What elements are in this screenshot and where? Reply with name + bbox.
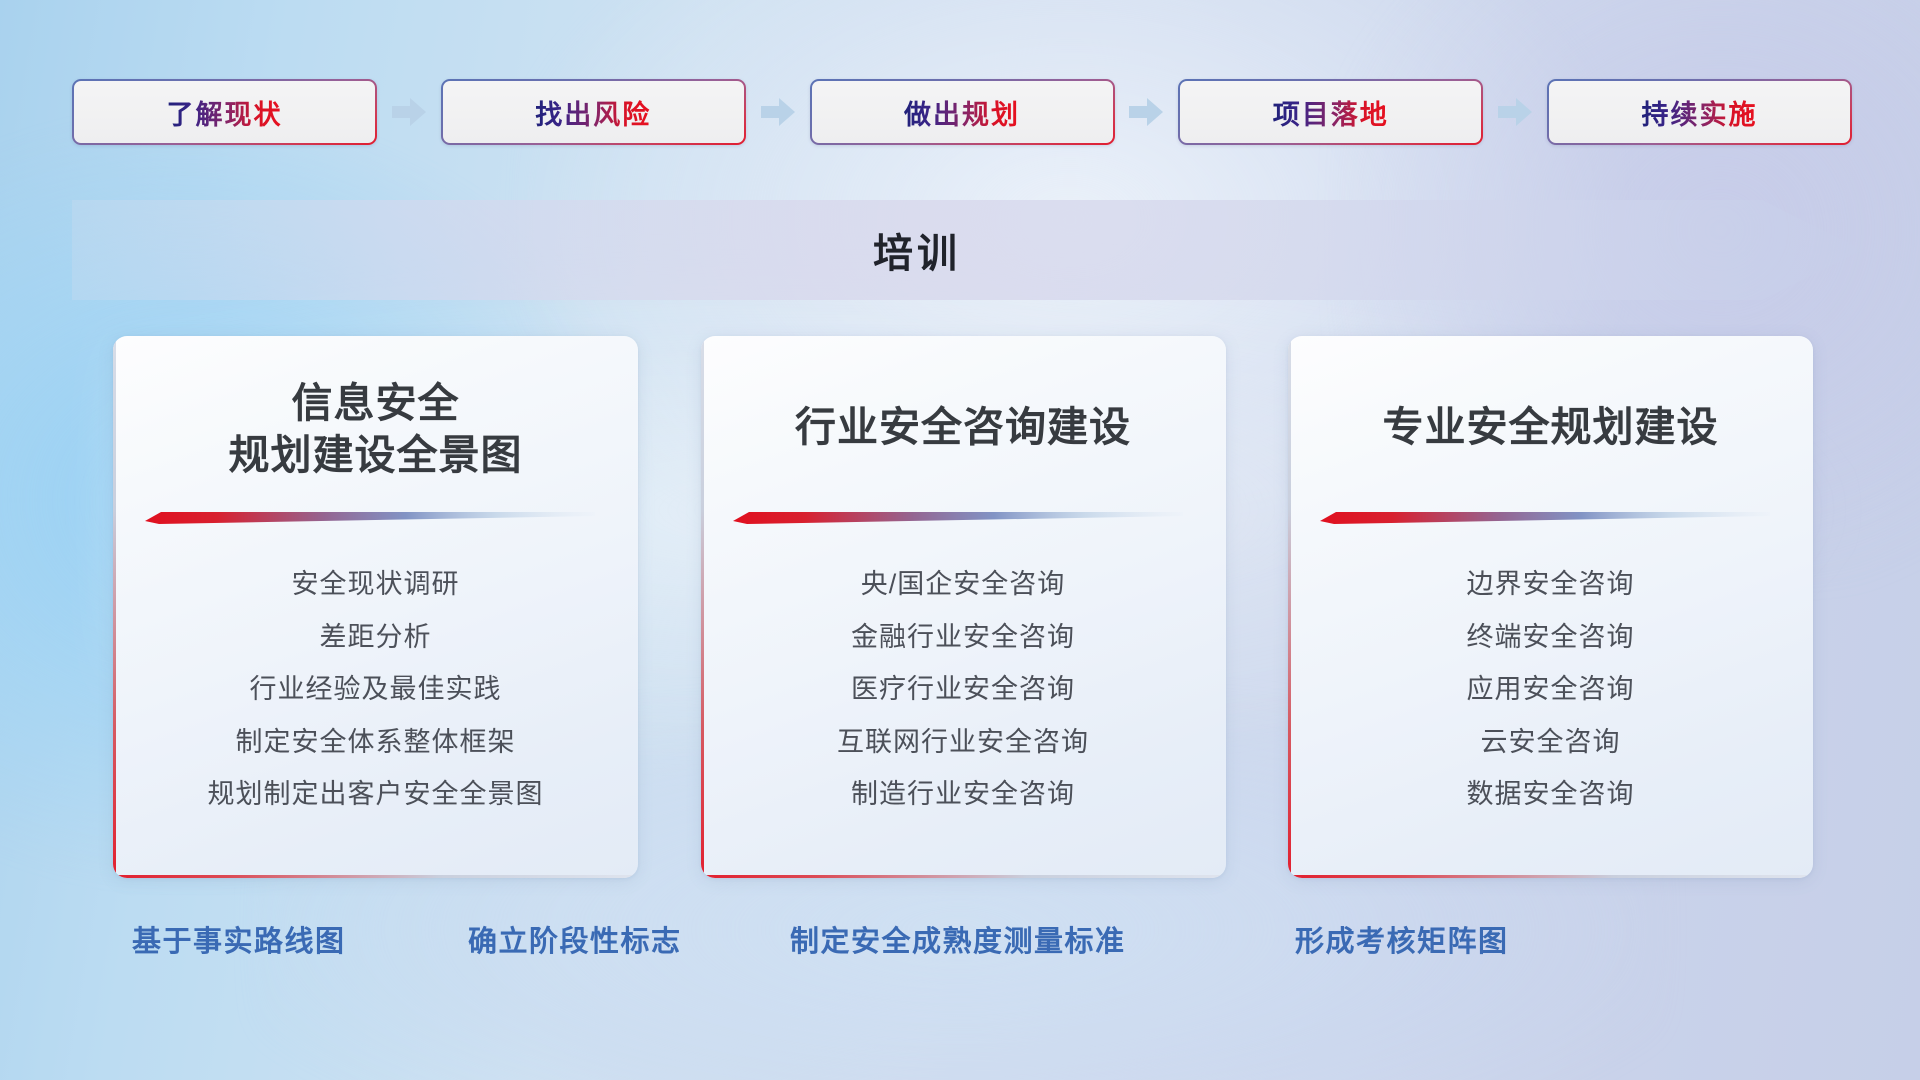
service-card-2-item-5: 制造行业安全咨询: [851, 774, 1075, 815]
service-card-2-bottom-accent: [701, 875, 1226, 878]
service-card-2-list: 央/国企安全咨询金融行业安全咨询医疗行业安全咨询互联网行业安全咨询制造行业安全咨…: [701, 564, 1226, 815]
outcome-caption-2: 确立阶段性标志: [468, 918, 682, 960]
service-card-2-item-4: 互联网行业安全咨询: [837, 722, 1089, 763]
outcome-caption-3: 制定安全成熟度测量标准: [790, 918, 1126, 960]
process-step-label-5: 持续实施: [1642, 93, 1758, 132]
process-step-inner-4: 项目落地: [1180, 81, 1481, 143]
process-step-3[interactable]: 做出规划: [810, 79, 1115, 145]
slide-stage: 了解现状 找出风险 做出规划 项目落地 持续实施: [0, 0, 1920, 1080]
process-step-inner-3: 做出规划: [812, 81, 1113, 143]
step-chevron-icon-3: [1129, 97, 1163, 127]
step-arrow-1: [392, 97, 426, 127]
service-card-2-item-2: 金融行业安全咨询: [851, 617, 1075, 658]
process-step-label-1: 了解现状: [167, 93, 283, 132]
service-card-1-item-3: 行业经验及最佳实践: [250, 669, 502, 710]
service-card-1-title: 信息安全 规划建设全景图: [113, 378, 638, 481]
service-card-3-divider: [1320, 508, 1770, 524]
step-chevron-icon-2: [761, 97, 795, 127]
card-row: 信息安全 规划建设全景图: [113, 336, 1813, 878]
service-card-1-list: 安全现状调研差距分析行业经验及最佳实践制定安全体系整体框架规划制定出客户安全全景…: [113, 564, 638, 815]
training-banner-label: 培训: [72, 200, 1762, 300]
service-card-3-list: 边界安全咨询终端安全咨询应用安全咨询云安全咨询数据安全咨询: [1288, 564, 1813, 815]
step-chevron-icon-1: [392, 97, 426, 127]
service-card-1-bottom-accent: [113, 875, 638, 878]
service-card-3-title: 专业安全规划建设: [1288, 402, 1813, 454]
caption-row: 基于事实路线图确立阶段性标志制定安全成熟度测量标准形成考核矩阵图: [0, 918, 1920, 968]
process-step-2[interactable]: 找出风险: [441, 79, 746, 145]
step-arrow-3: [1129, 97, 1163, 127]
service-card-1-item-4: 制定安全体系整体框架: [236, 722, 516, 763]
step-arrow-4: [1498, 97, 1532, 127]
service-card-2-item-1: 央/国企安全咨询: [861, 564, 1066, 605]
service-card-3-item-3: 应用安全咨询: [1467, 669, 1635, 710]
service-card-1-divider: [145, 508, 595, 524]
service-card-3-divider-shape: [1320, 508, 1770, 524]
outcome-caption-4: 形成考核矩阵图: [1295, 918, 1509, 960]
service-card-3-item-5: 数据安全咨询: [1467, 774, 1635, 815]
service-card-1-divider-shape: [145, 508, 595, 524]
service-card-3[interactable]: 专业安全规划建设 边界安全: [1288, 336, 1813, 878]
service-card-3-bottom-accent: [1288, 875, 1813, 878]
service-card-2-divider-shape: [733, 508, 1183, 524]
service-card-2-item-3: 医疗行业安全咨询: [851, 669, 1075, 710]
process-step-inner-1: 了解现状: [74, 81, 375, 143]
process-step-inner-5: 持续实施: [1549, 81, 1850, 143]
process-step-inner-2: 找出风险: [443, 81, 744, 143]
outcome-caption-1: 基于事实路线图: [132, 918, 346, 960]
service-card-2-title: 行业安全咨询建设: [701, 402, 1226, 454]
service-card-3-item-2: 终端安全咨询: [1467, 617, 1635, 658]
process-step-1[interactable]: 了解现状: [72, 79, 377, 145]
process-step-4[interactable]: 项目落地: [1178, 79, 1483, 145]
service-card-1-item-1: 安全现状调研: [292, 564, 460, 605]
service-card-2[interactable]: 行业安全咨询建设 央/国企: [701, 336, 1226, 878]
service-card-3-item-4: 云安全咨询: [1481, 722, 1621, 763]
process-step-label-4: 项目落地: [1273, 93, 1389, 132]
service-card-3-item-1: 边界安全咨询: [1467, 564, 1635, 605]
step-chevron-icon-4: [1498, 97, 1532, 127]
service-card-1-item-5: 规划制定出客户安全全景图: [208, 774, 544, 815]
service-card-2-divider: [733, 508, 1183, 524]
step-arrow-2: [761, 97, 795, 127]
service-card-1-item-2: 差距分析: [320, 617, 432, 658]
process-step-label-2: 找出风险: [535, 93, 651, 132]
process-step-5[interactable]: 持续实施: [1547, 79, 1852, 145]
training-banner: 培训: [72, 200, 1862, 300]
process-step-row: 了解现状 找出风险 做出规划 项目落地 持续实施: [72, 79, 1852, 145]
service-card-1[interactable]: 信息安全 规划建设全景图: [113, 336, 638, 878]
process-step-label-3: 做出规划: [904, 93, 1020, 132]
